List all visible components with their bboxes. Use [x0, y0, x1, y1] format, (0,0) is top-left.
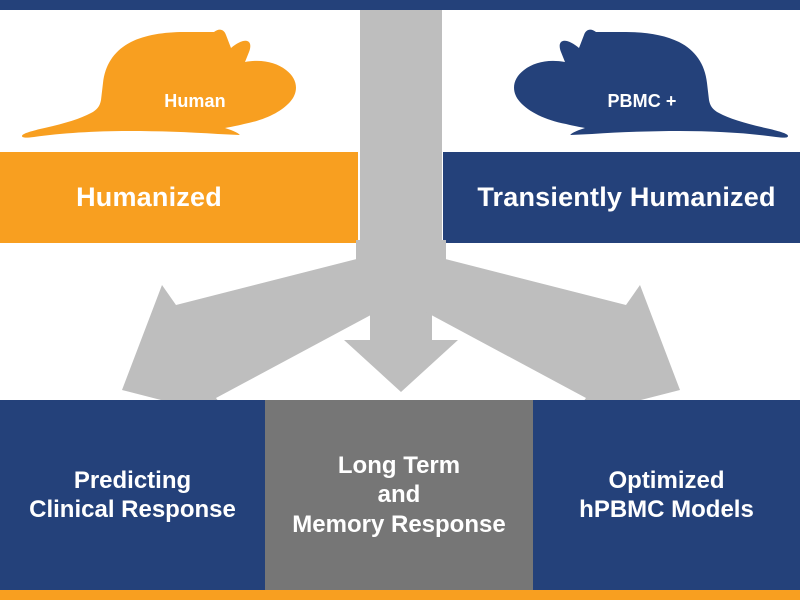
- mouse-right-label-line2: Xenograft: [600, 134, 685, 154]
- band-transiently-humanized-label: Transiently Humanized: [477, 182, 775, 213]
- outcome-middle-label: Long Term and Memory Response: [292, 451, 505, 539]
- outcome-right-label: Optimized hPBMC Models: [579, 466, 754, 525]
- mouse-left-label-line2-pre: CD34: [146, 134, 192, 154]
- mouse-right-label-line1: PBMC +: [607, 91, 676, 111]
- outcome-box-long-term-and-memory-response[interactable]: Long Term and Memory Response: [265, 400, 533, 590]
- band-transiently-humanized[interactable]: Transiently Humanized: [443, 152, 800, 243]
- mouse-right-label: PBMC + Xenograft: [552, 70, 732, 155]
- outcome-box-optimized-hpbmc-models[interactable]: Optimized hPBMC Models: [533, 400, 800, 590]
- diagram-canvas: Human CD34+ HSC PBMC + Xenograft Humaniz…: [0, 0, 800, 600]
- mouse-left-label-line2-post: HSC: [200, 134, 243, 154]
- band-humanized[interactable]: Humanized: [0, 152, 358, 243]
- bottom-accent-bar: [0, 590, 800, 600]
- outcome-box-predicting-clinical-response[interactable]: Predicting Clinical Response: [0, 400, 265, 590]
- outcome-left-label: Predicting Clinical Response: [29, 466, 236, 525]
- top-accent-bar: [0, 0, 800, 10]
- mouse-left-label-line1: Human: [164, 91, 226, 111]
- band-humanized-label: Humanized: [76, 182, 222, 213]
- mouse-left-label: Human CD34+ HSC: [110, 70, 280, 155]
